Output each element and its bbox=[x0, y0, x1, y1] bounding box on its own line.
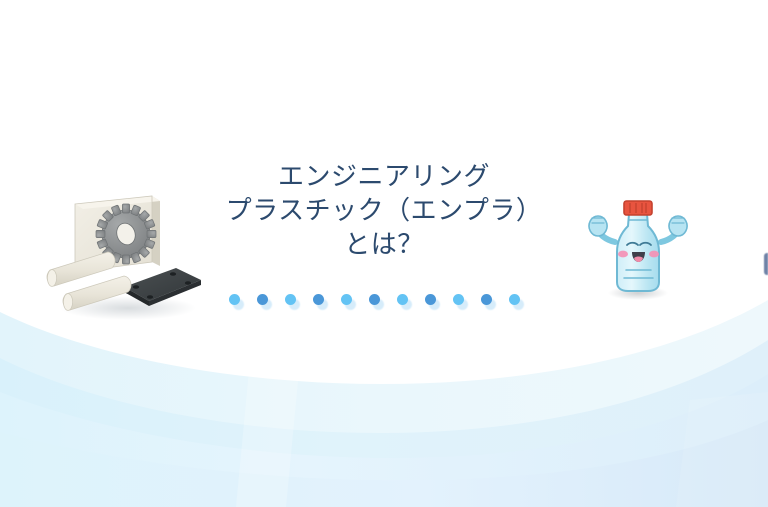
carousel-dot-8[interactable] bbox=[425, 294, 436, 305]
carousel-dot-fill bbox=[313, 294, 324, 305]
carousel-dot-fill bbox=[509, 294, 520, 305]
carousel-next-arrow[interactable] bbox=[764, 253, 768, 275]
carousel-dot-2[interactable] bbox=[257, 294, 268, 305]
carousel-dot-fill bbox=[481, 294, 492, 305]
carousel-dot-6[interactable] bbox=[369, 294, 380, 305]
carousel-dot-fill bbox=[453, 294, 464, 305]
mascot-arm-right bbox=[661, 216, 687, 242]
illustration-plastic-bottle-mascot bbox=[588, 196, 688, 308]
carousel-dot-5[interactable] bbox=[341, 294, 352, 305]
mascot-arm-left bbox=[589, 216, 615, 242]
title-line-3: とは？ bbox=[184, 228, 584, 262]
carousel-dot-7[interactable] bbox=[397, 294, 408, 305]
carousel-dot-indicator[interactable] bbox=[229, 288, 529, 310]
carousel-dot-10[interactable] bbox=[481, 294, 492, 305]
carousel-dot-fill bbox=[285, 294, 296, 305]
slide-title: エンジニアリング プラスチック（エンプラ） とは？ bbox=[184, 160, 584, 262]
carousel-dot-fill bbox=[257, 294, 268, 305]
carousel-dot-3[interactable] bbox=[285, 294, 296, 305]
carousel-dot-4[interactable] bbox=[313, 294, 324, 305]
carousel-dot-fill bbox=[341, 294, 352, 305]
title-line-1: エンジニアリング bbox=[184, 160, 584, 194]
title-line-2: プラスチック（エンプラ） bbox=[184, 194, 584, 228]
carousel-dot-9[interactable] bbox=[453, 294, 464, 305]
carousel-dot-1[interactable] bbox=[229, 294, 240, 305]
carousel-dot-fill bbox=[229, 294, 240, 305]
carousel-dot-fill bbox=[397, 294, 408, 305]
illustration-engineering-plastic-parts bbox=[40, 188, 205, 323]
slide-canvas: エンジニアリング プラスチック（エンプラ） とは？ bbox=[0, 0, 768, 507]
mascot-cap bbox=[624, 201, 652, 215]
carousel-dot-11[interactable] bbox=[509, 294, 520, 305]
carousel-dot-fill bbox=[369, 294, 380, 305]
carousel-dot-fill bbox=[425, 294, 436, 305]
